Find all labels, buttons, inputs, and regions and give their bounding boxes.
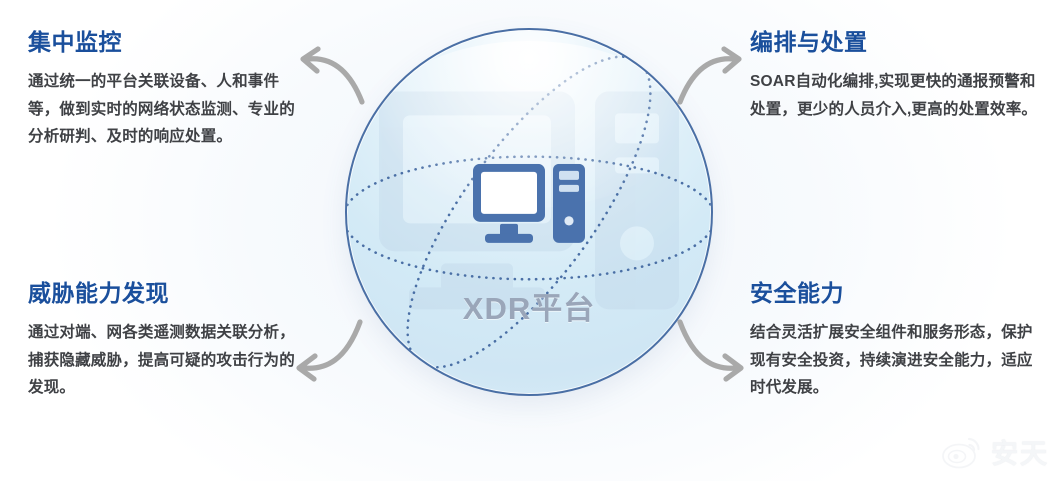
quadrant-body-threat-discovery: 通过对端、网各类遥测数据关联分析，捕获隐藏威胁，提高可疑的攻击行为的发现。	[28, 319, 300, 402]
quadrant-title-security-capability: 安全能力	[750, 281, 1040, 306]
weibo-watermark: 安天	[942, 432, 1049, 471]
computer-desktop-tower-icon	[473, 164, 585, 250]
curved-arrow-up-right-icon	[676, 44, 754, 106]
xdr-platform-label: XDR平台	[347, 283, 711, 328]
sphere-body: XDR平台	[345, 28, 713, 396]
quadrant-top-left: 集中监控 通过统一的平台关联设备、人和事件等，做到实时的网络状态监测、专业的分析…	[28, 30, 300, 151]
quadrant-bottom-right: 安全能力 结合灵活扩展安全组件和服务形态，保护现有安全投资，持续演进安全能力，适…	[750, 281, 1040, 402]
quadrant-title-orchestration: 编排与处置	[750, 30, 1040, 55]
quadrant-bottom-left: 威胁能力发现 通过对端、网各类遥测数据关联分析，捕获隐藏威胁，提高可疑的攻击行为…	[28, 281, 300, 402]
quadrant-title-threat-discovery: 威胁能力发现	[28, 281, 300, 306]
quadrant-body-centralized-monitoring: 通过统一的平台关联设备、人和事件等，做到实时的网络状态监测、专业的分析研判、及时…	[28, 68, 300, 151]
curved-arrow-down-right-icon	[676, 318, 758, 382]
xdr-platform-sphere: XDR平台	[345, 28, 713, 396]
weibo-logo-icon	[942, 435, 984, 469]
curved-arrow-down-left-icon	[282, 318, 364, 382]
curved-arrow-up-left-icon	[288, 44, 366, 106]
quadrant-top-right: 编排与处置 SOAR自动化编排,实现更快的通报预警和处置，更少的人员介入,更高的…	[750, 30, 1040, 123]
quadrant-body-security-capability: 结合灵活扩展安全组件和服务形态，保护现有安全投资，持续演进安全能力，适应时代发展…	[750, 319, 1040, 402]
quadrant-title-centralized-monitoring: 集中监控	[28, 30, 300, 55]
quadrant-body-orchestration: SOAR自动化编排,实现更快的通报预警和处置，更少的人员介入,更高的处置效率。	[750, 68, 1040, 123]
diagram-canvas: 集中监控 通过统一的平台关联设备、人和事件等，做到实时的网络状态监测、专业的分析…	[0, 0, 1063, 481]
weibo-watermark-text: 安天	[991, 432, 1049, 471]
